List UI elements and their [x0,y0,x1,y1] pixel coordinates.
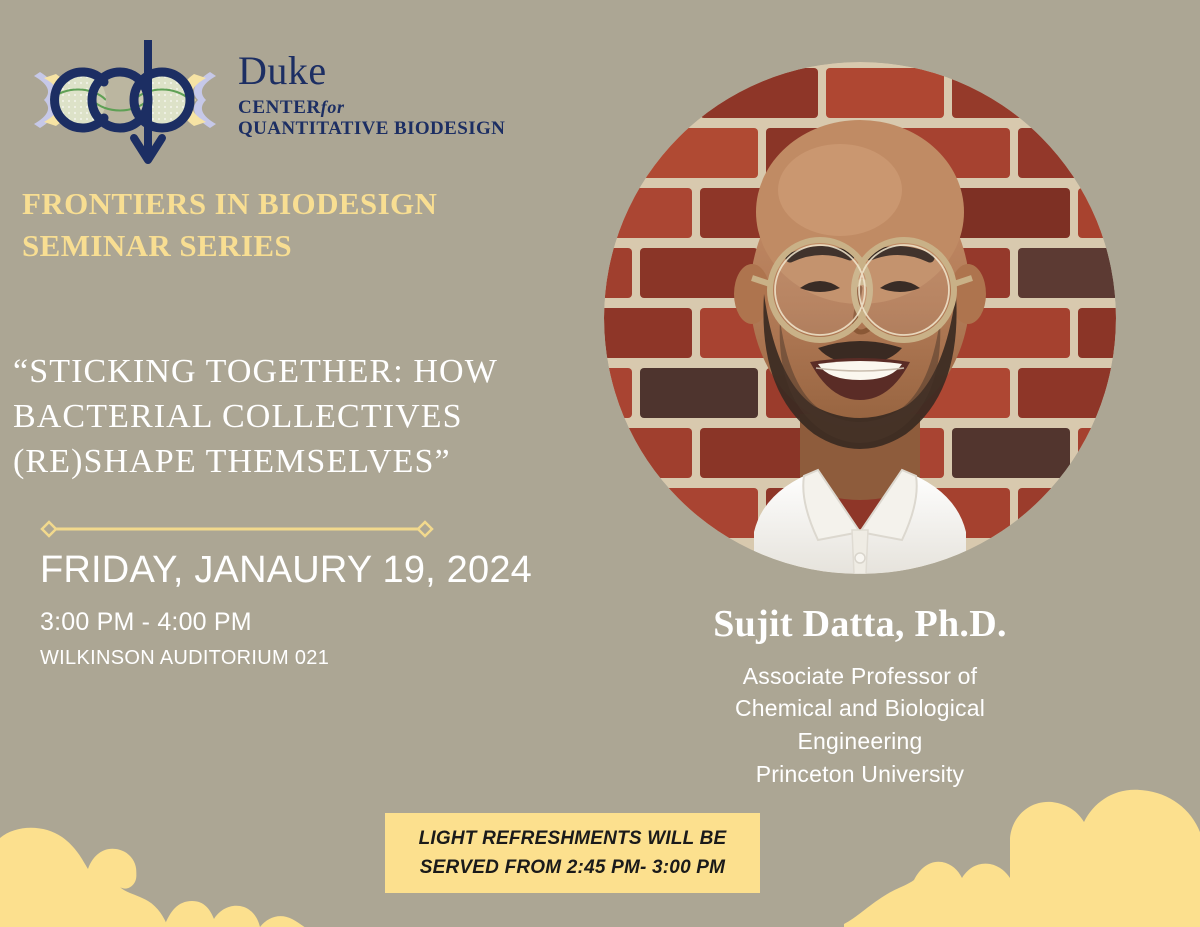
speaker-affiliation: Associate Professor of Chemical and Biol… [660,660,1060,791]
logo-center-for-text: CENTERfor [238,97,505,118]
logo-center-word: CENTER [238,97,321,118]
speaker-institution: Princeton University [660,758,1060,791]
talk-title-line2: BACTERIAL COLLECTIVES [13,394,593,439]
speaker-portrait [604,62,1116,574]
refreshments-line2: SERVED FROM 2:45 PM- 3:00 PM [420,853,725,882]
logo-unit-text: QUANTITATIVE BIODESIGN [238,118,505,139]
speaker-block: Sujit Datta, Ph.D. Associate Professor o… [660,604,1060,790]
speaker-name: Sujit Datta, Ph.D. [660,604,1060,646]
diamond-rule-divider [40,520,434,538]
speaker-title-line3: Engineering [660,725,1060,758]
event-time: 3:00 PM - 4:00 PM [40,608,600,637]
talk-title-line3: (RE)SHAPE THEMSELVES” [13,439,593,484]
cloud-shape-left [0,697,416,927]
talk-title-line1: “STICKING TOGETHER: HOW [13,349,593,394]
event-details: FRIDAY, JANAURY 19, 2024 3:00 PM - 4:00 … [40,548,600,670]
logo-duke-text: Duke [238,52,505,90]
logo-wordmark: Duke CENTERfor QUANTITATIVE BIODESIGN [238,52,505,140]
event-location: WILKINSON AUDITORIUM 021 [40,647,600,670]
refreshments-line1: LIGHT REFRESHMENTS WILL BE [419,824,727,853]
series-heading: FRONTIERS IN BIODESIGN SEMINAR SERIES [22,183,562,267]
seminar-poster: Duke CENTERfor QUANTITATIVE BIODESIGN FR… [0,0,1200,927]
cqb-duke-logo: Duke CENTERfor QUANTITATIVE BIODESIGN [30,38,505,168]
speaker-portrait-photo [604,62,1116,574]
series-heading-line2: SEMINAR SERIES [22,225,562,267]
refreshments-banner: LIGHT REFRESHMENTS WILL BE SERVED FROM 2… [385,813,760,893]
cqb-logo-mark [30,38,220,168]
event-date: FRIDAY, JANAURY 19, 2024 [40,548,600,593]
logo-for-word: for [321,97,345,117]
speaker-title-line1: Associate Professor of [660,660,1060,693]
series-heading-line1: FRONTIERS IN BIODESIGN [22,183,562,225]
speaker-title-line2: Chemical and Biological [660,692,1060,725]
talk-title: “STICKING TOGETHER: HOW BACTERIAL COLLEC… [13,349,593,485]
